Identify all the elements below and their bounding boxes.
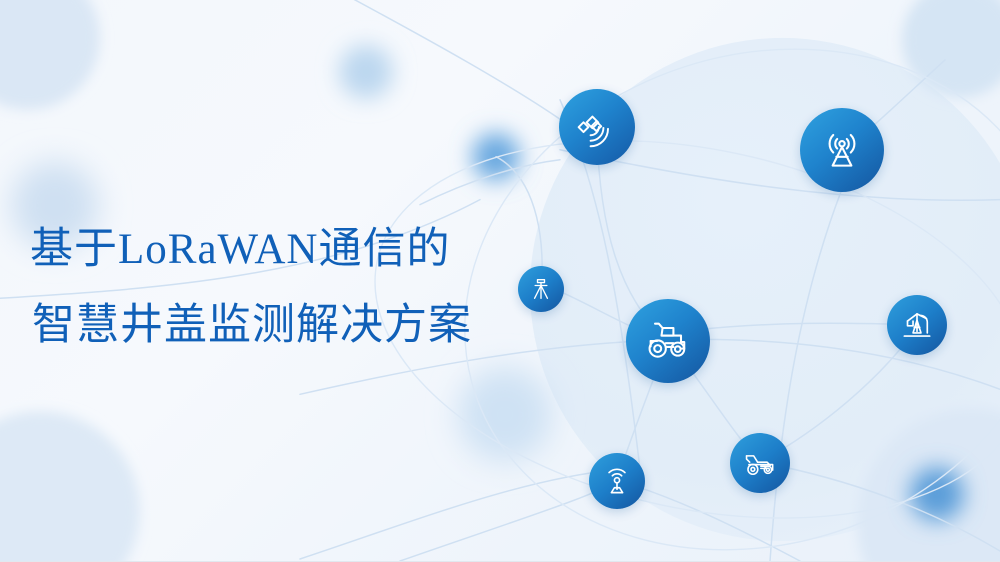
node-satellite[interactable] [559,89,635,165]
radio-tower-icon [800,108,884,192]
node-tractor[interactable] [626,299,710,383]
title-slide: 基于LoRaWAN通信的 智慧井盖监测解决方案 [0,0,1000,562]
node-radio-tower[interactable] [800,108,884,192]
satellite-dish-icon [559,89,635,165]
node-oil-pumpjack[interactable] [887,295,947,355]
node-survey-tripod[interactable] [518,266,564,312]
node-harvester[interactable] [730,433,790,493]
wireless-sensor-icon [589,453,645,509]
node-wireless-sensor[interactable] [589,453,645,509]
background-decoration [0,0,1000,561]
harvester-vehicle-icon [730,433,790,493]
survey-tripod-icon [518,266,564,312]
oil-pumpjack-icon [887,295,947,355]
tractor-icon [626,299,710,383]
